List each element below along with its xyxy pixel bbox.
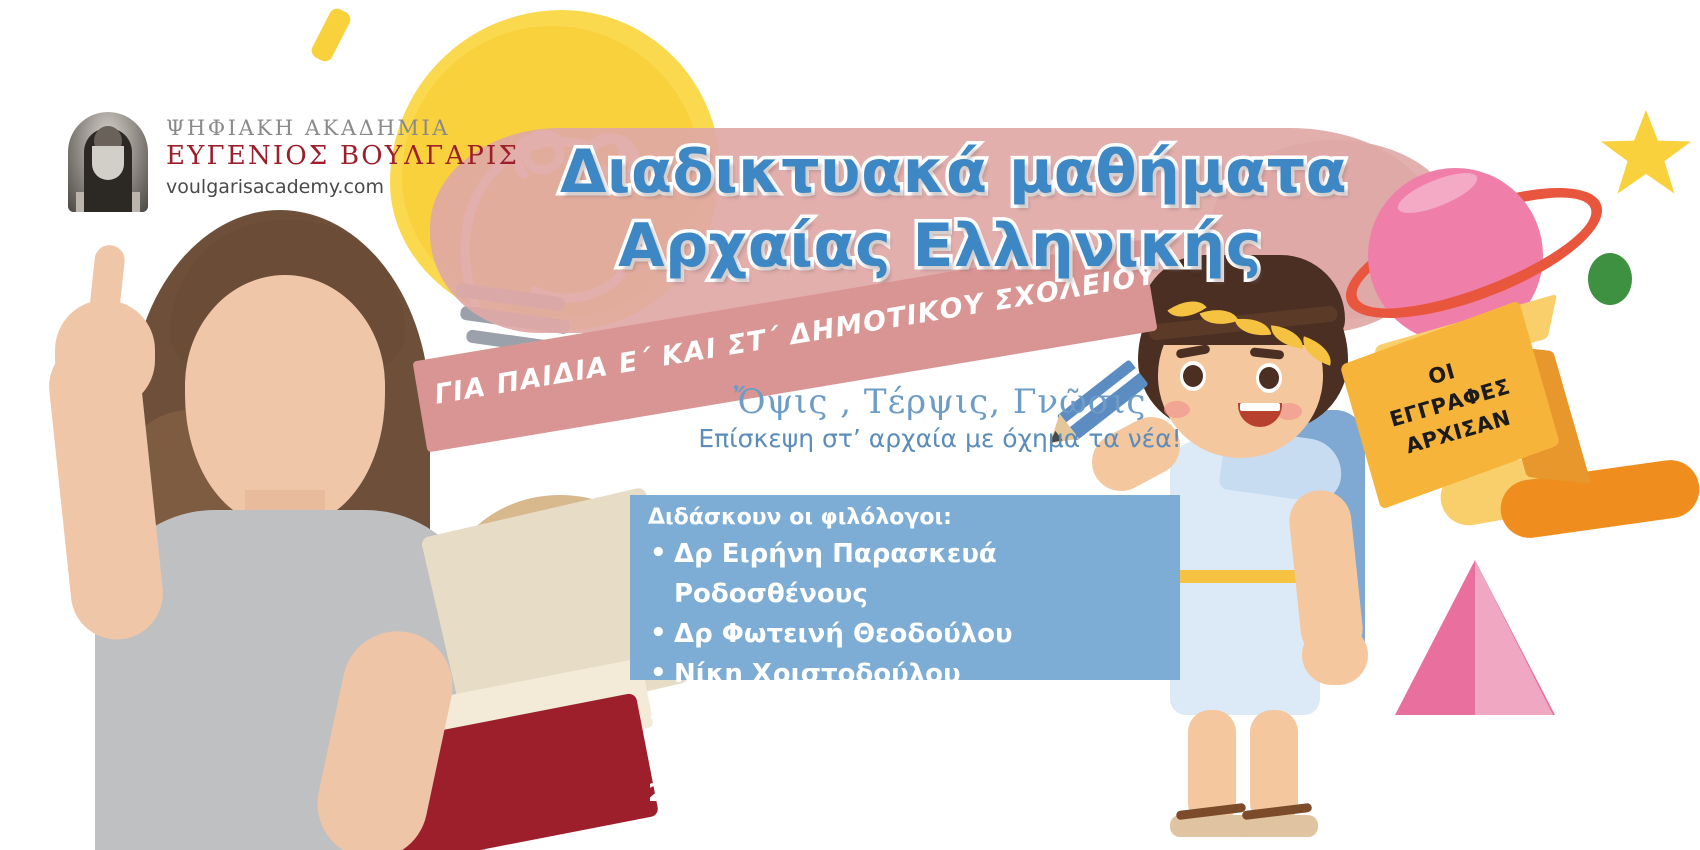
page-title: Διαδικτυακά μαθήματα Αρχαίας Ελληνικής xyxy=(560,135,1320,283)
logo-text-block: ΨΗΦΙΑΚΗ ΑΚΑΔΗΜΙΑ ΕΥΓΕΝΙΟΣ ΒΟΥΛΓΑΡΙΣ voul… xyxy=(166,112,519,198)
title-line-2: Αρχαίας Ελληνικής xyxy=(560,209,1320,283)
poster-canvas: ΟΙ ΕΓΓΡΑΦΕΣ ΑΡΧΙΣΑΝ ΨΗΦΙΑΚΗ ΑΚΑΔΗΜΙΑ ΕΥΓ… xyxy=(0,0,1700,850)
star-icon xyxy=(1600,110,1692,200)
term-dates: 4 Οκτωβρίου 2023 – 31 Ιανουαρίου 2024 xyxy=(648,742,1188,810)
list-item: Δρ Ειρήνη Παρασκευά Ροδοσθένους xyxy=(648,534,1188,614)
list-item: Νίκη Χριστοδούλου xyxy=(648,654,1188,694)
portrait-icon xyxy=(68,112,148,212)
logo-line-2: ΕΥΓΕΝΙΟΣ ΒΟΥΛΓΑΡΙΣ xyxy=(166,141,519,171)
girl-illustration xyxy=(0,180,520,850)
lightbulb-ray-icon xyxy=(309,6,353,64)
info-panel-content: Διδάσκουν οι φιλόλογοι: Δρ Ειρήνη Παρασκ… xyxy=(648,505,1188,810)
subtitle-ancient-greek: Ὄψις , Τέρψις, Γνῶσις xyxy=(560,382,1320,422)
term-label: 1ο τετράμηνο: xyxy=(648,708,1188,742)
list-item: Δρ Φωτεινή Θεοδούλου xyxy=(648,614,1188,654)
teachers-heading: Διδάσκουν οι φιλόλογοι: xyxy=(648,505,1188,530)
subtitle-modern-greek: Επίσκεψη στ’ αρχαία με όχημα τα νέα! xyxy=(560,424,1320,453)
title-line-1: Διαδικτυακά μαθήματα xyxy=(560,135,1320,209)
logo-line-1: ΨΗΦΙΑΚΗ ΑΚΑΔΗΜΙΑ xyxy=(166,116,519,140)
teachers-list: Δρ Ειρήνη Παρασκευά Ροδοσθένους Δρ Φωτει… xyxy=(648,534,1188,694)
green-circle-icon xyxy=(1588,253,1632,305)
logo-website[interactable]: voulgarisacademy.com xyxy=(166,176,519,198)
academy-logo[interactable]: ΨΗΦΙΑΚΗ ΑΚΑΔΗΜΙΑ ΕΥΓΕΝΙΟΣ ΒΟΥΛΓΑΡΙΣ voul… xyxy=(68,112,519,212)
pyramid-icon-side xyxy=(1475,560,1553,715)
